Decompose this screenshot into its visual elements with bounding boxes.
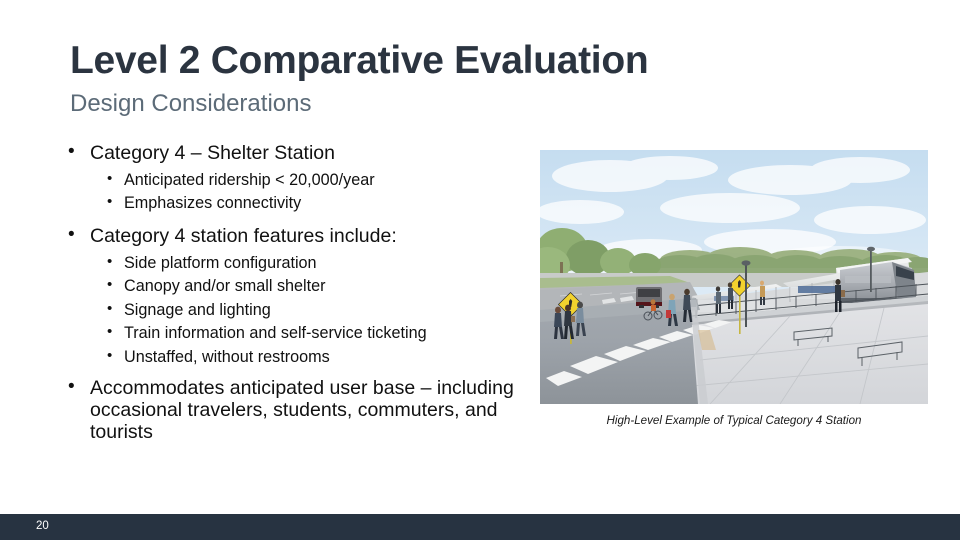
bullet-level1-label: Category 4 – Shelter Station: [90, 142, 335, 164]
bullet-list: • Category 4 – Shelter Station • Anticip…: [62, 142, 532, 445]
bullet-level2: • Anticipated ridership < 20,000/year: [62, 171, 532, 190]
bullet-level2-label: Emphasizes connectivity: [124, 194, 301, 212]
bullet-level1-label: Accommodates anticipated user base – inc…: [90, 377, 514, 443]
bullet-glyph-icon: •: [107, 323, 112, 341]
bullet-level2-label: Unstaffed, without restrooms: [124, 348, 330, 366]
slide-number: 20: [36, 520, 49, 532]
bullet-level2: • Signage and lighting: [62, 301, 532, 320]
bullet-level1: • Category 4 – Shelter Station: [62, 142, 532, 165]
bullet-level2: • Side platform configuration: [62, 254, 532, 273]
page-title: Level 2 Comparative Evaluation: [70, 41, 648, 82]
bus: [636, 287, 662, 308]
bullet-level2-label: Side platform configuration: [124, 254, 317, 272]
bullet-level2-label: Signage and lighting: [124, 301, 271, 319]
bullet-level1: • Category 4 station features include:: [62, 225, 532, 248]
bullet-group-1: • Category 4 – Shelter Station • Anticip…: [62, 142, 532, 214]
bullet-glyph-icon: •: [107, 276, 112, 294]
bullet-level2: • Train information and self-service tic…: [62, 324, 532, 343]
bullet-glyph-icon: •: [68, 224, 75, 246]
bullet-glyph-icon: •: [68, 141, 75, 163]
slide: Level 2 Comparative Evaluation Design Co…: [0, 0, 960, 540]
bullet-glyph-icon: •: [107, 170, 112, 188]
station-rendering-image: [540, 150, 928, 404]
bullet-level2-label: Canopy and/or small shelter: [124, 277, 326, 295]
bullet-group-2: • Category 4 station features include: •…: [62, 225, 532, 367]
bullet-glyph-icon: •: [107, 300, 112, 318]
station-rendering-svg: [540, 150, 928, 404]
bullet-level2: • Canopy and/or small shelter: [62, 277, 532, 296]
bullet-glyph-icon: •: [107, 347, 112, 365]
bullet-group-3: • Accommodates anticipated user base – i…: [62, 377, 532, 443]
bullet-glyph-icon: •: [107, 193, 112, 211]
bullet-level2: • Emphasizes connectivity: [62, 194, 532, 213]
figure-caption: High-Level Example of Typical Category 4…: [540, 414, 928, 427]
bullet-level2-label: Train information and self-service ticke…: [124, 324, 427, 342]
bullet-glyph-icon: •: [68, 376, 75, 397]
page-subtitle: Design Considerations: [70, 90, 311, 119]
bullet-level1: • Accommodates anticipated user base – i…: [62, 377, 532, 443]
bullet-glyph-icon: •: [107, 253, 112, 271]
footer-bar: [0, 514, 960, 540]
bullet-level2-label: Anticipated ridership < 20,000/year: [124, 171, 375, 189]
bullet-level1-label: Category 4 station features include:: [90, 225, 397, 247]
bullet-level2: • Unstaffed, without restrooms: [62, 348, 532, 367]
